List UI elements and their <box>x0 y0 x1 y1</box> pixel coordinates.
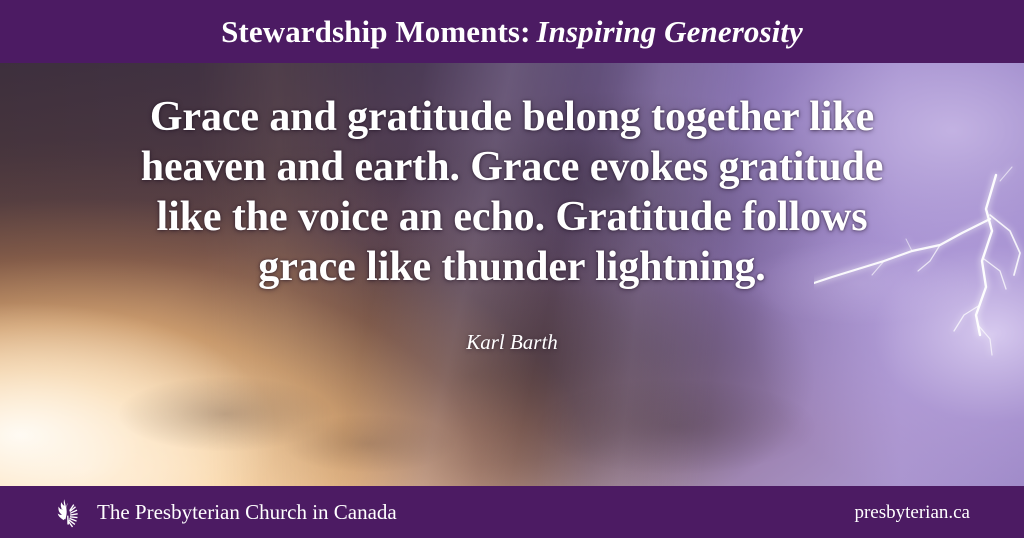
quote-line-1: Grace and gratitude belong together like <box>62 92 962 142</box>
page-title: Stewardship Moments:Inspiring Generosity <box>221 16 803 47</box>
footer-brand[interactable]: The Presbyterian Church in Canada <box>54 496 397 528</box>
footer-organization-name: The Presbyterian Church in Canada <box>97 502 397 523</box>
stewardship-moments-poster: Stewardship Moments:Inspiring Generosity… <box>0 0 1024 538</box>
burning-bush-logo-icon <box>54 496 86 528</box>
quote-line-4: grace like thunder lightning. <box>62 242 962 292</box>
page-title-main: Stewardship Moments: <box>221 14 530 49</box>
quote-attribution: Karl Barth <box>62 292 962 354</box>
quote-line-3: like the voice an echo. Gratitude follow… <box>62 192 962 242</box>
header-bar: Stewardship Moments:Inspiring Generosity <box>0 0 1024 63</box>
page-title-emphasis: Inspiring Generosity <box>537 14 803 49</box>
footer-bar: The Presbyterian Church in Canada presby… <box>0 486 1024 538</box>
quote-line-2: heaven and earth. Grace evokes gratitude <box>62 142 962 192</box>
quote-block: Grace and gratitude belong together like… <box>62 92 962 354</box>
footer-website-link[interactable]: presbyterian.ca <box>854 503 970 522</box>
